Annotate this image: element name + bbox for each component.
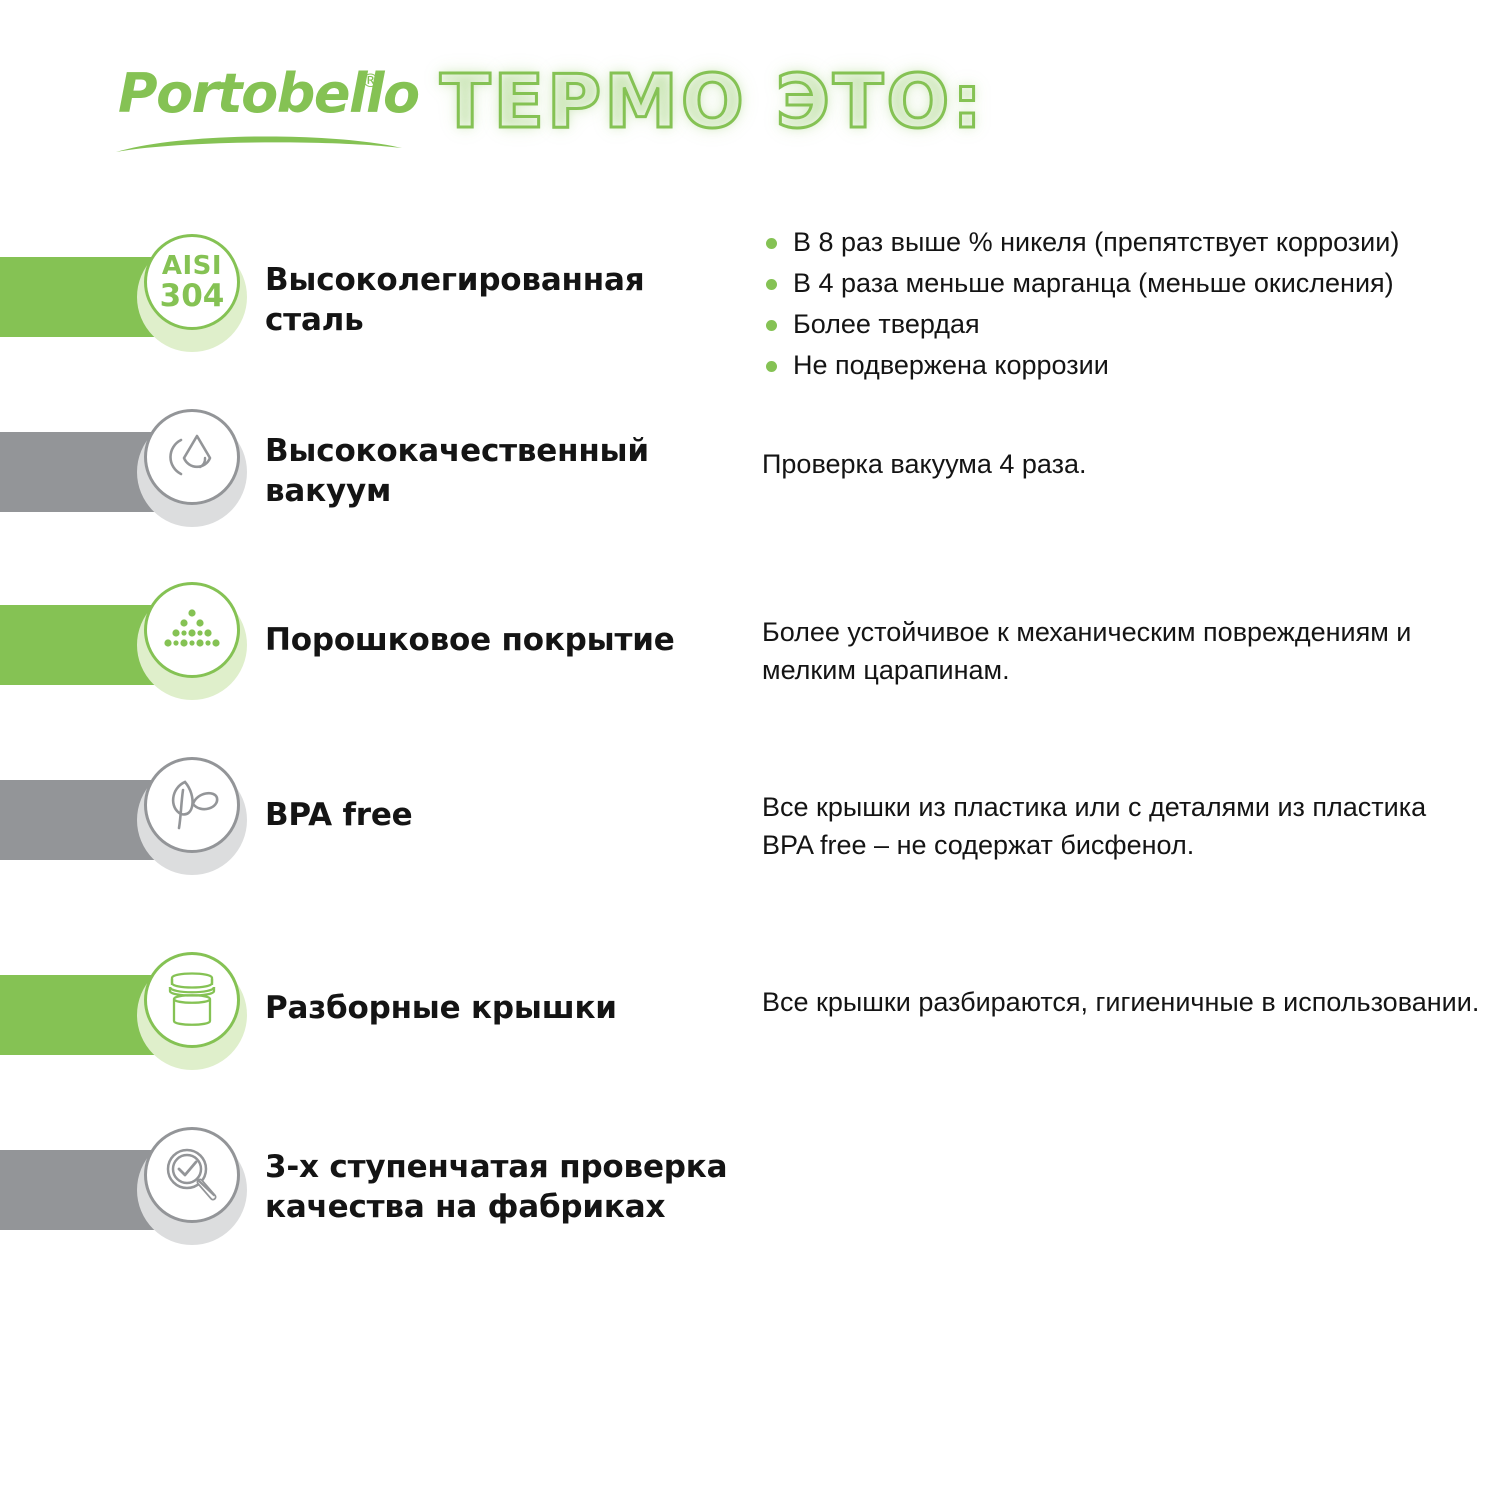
feature-row-powder-coating: Порошковое покрытие Более устойчивое к м…: [0, 560, 1500, 730]
list-item: В 4 раза меньше марганца (меньше окислен…: [762, 263, 1500, 304]
leaves-icon: [144, 757, 240, 853]
brand-logo: Portobello ®: [118, 62, 408, 157]
powder-dots-icon: [144, 582, 240, 678]
feature-description: Все крышки разбираются, гигиеничные в ис…: [762, 984, 1482, 1022]
feature-row-steel: AISI 304 Высоколегированная сталь В 8 ра…: [0, 212, 1500, 382]
disassembled-lid-icon: [144, 952, 240, 1048]
page-title-text: ТЕРМО ЭТО:: [440, 59, 985, 145]
registered-trademark-icon: ®: [361, 70, 380, 92]
list-item: Не подвержена коррозии: [762, 345, 1500, 386]
feature-row-quality-check: 3-х ступенчатая проверка качества на фаб…: [0, 1105, 1500, 1275]
list-item: В 8 раз выше % никеля (препятствует корр…: [762, 222, 1500, 263]
feature-description: Более устойчивое к механическим поврежде…: [762, 614, 1482, 690]
feature-title: BPA free: [265, 795, 735, 835]
aisi-grade: 304: [160, 281, 225, 312]
feature-description: Проверка вакуума 4 раза.: [762, 446, 1482, 484]
feature-title: Порошковое покрытие: [265, 620, 735, 660]
aisi-label: AISI: [160, 253, 225, 279]
feature-title: Высококачественный вакуум: [265, 431, 735, 512]
water-drop-icon: [144, 409, 240, 505]
feature-row-bpa-free: BPA free Все крышки из пластика или с де…: [0, 735, 1500, 905]
page-header: Portobello ® ТЕРМО ЭТО:: [0, 0, 1500, 200]
feature-title: Высоколегированная сталь: [265, 260, 735, 341]
brand-swoosh-icon: [114, 128, 404, 154]
feature-bullet-list: В 8 раз выше % никеля (препятствует корр…: [762, 222, 1500, 386]
feature-title: 3-х ступенчатая проверка качества на фаб…: [265, 1147, 735, 1228]
feature-description: Все крышки из пластика или с деталями из…: [762, 789, 1482, 865]
feature-row-vacuum: Высококачественный вакуум Проверка вакуу…: [0, 387, 1500, 557]
magnifier-check-icon: [144, 1127, 240, 1223]
feature-title: Разборные крышки: [265, 988, 735, 1028]
aisi-304-badge-icon: AISI 304: [144, 234, 240, 330]
feature-row-lids: Разборные крышки Все крышки разбираются,…: [0, 930, 1500, 1100]
list-item: Более твердая: [762, 304, 1500, 345]
page-title: ТЕРМО ЭТО:: [440, 52, 985, 152]
